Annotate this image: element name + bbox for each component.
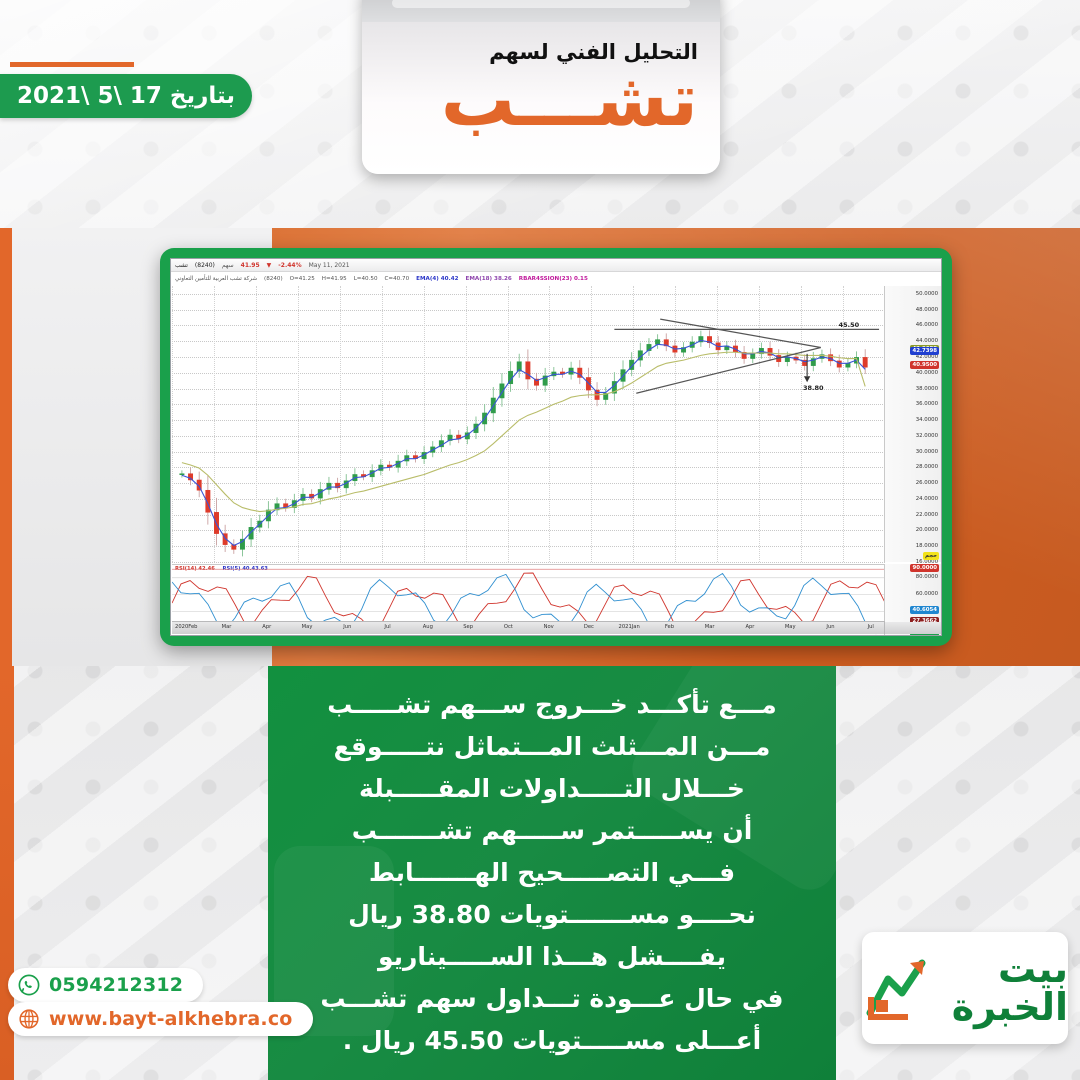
price-axis-tick: 38.0000 <box>916 386 938 392</box>
price-axis-tick: 40.0000 <box>916 370 938 376</box>
date-axis-tick: Apr <box>745 624 754 630</box>
date-axis-tick: 2021Jan <box>619 624 640 630</box>
date-axis-tick: Dec <box>584 624 594 630</box>
contact-website-text: www.bayt-alkhebra.co <box>49 1008 293 1030</box>
growth-arrow-chart-icon <box>862 953 936 1023</box>
price-badge: 40.9500 <box>910 361 939 369</box>
price-gridline <box>172 562 885 563</box>
triangle-trendline <box>660 319 821 347</box>
chart-last-price: 41.95 <box>241 262 260 269</box>
ohlc-high: H=41.95 <box>322 276 347 282</box>
contact-phone-text: 0594212312 <box>49 974 183 996</box>
rsi-badge: 40.6054 <box>910 606 939 614</box>
price-axis-tick: 26.0000 <box>916 480 938 486</box>
price-axis-tick: 34.0000 <box>916 417 938 423</box>
chart-screenshot: تشب (8240) سهم 41.95 ▼ -2.44% May 11, 20… <box>170 258 942 636</box>
infographic-root: التحليل الفني لسهم تشـــب بتاريخ 17 \5 \… <box>0 0 1080 1080</box>
ohlc-close: C=40.70 <box>385 276 410 282</box>
price-axis-tick: 48.0000 <box>916 307 938 313</box>
brand-logo-text: بيت الخبرة <box>936 950 1068 1026</box>
price-axis: 50.000048.000046.000044.000042.000040.00… <box>884 286 941 562</box>
chart-date: May 11, 2021 <box>309 262 350 269</box>
date-axis-tick: Apr <box>262 624 271 630</box>
rsi-badge: 90.0000 <box>910 564 939 572</box>
price-axis-tick: 18.0000 <box>916 543 938 549</box>
date-axis-tick: Aug <box>423 624 433 630</box>
date-axis: 2020FebMarAprMayJunJulAugSepOctNovDec202… <box>172 621 885 634</box>
price-axis-tick: 28.0000 <box>916 464 938 470</box>
price-badge: 42.7398 <box>910 347 939 355</box>
chart-header-row-2: شركة تشب العربية للتأمين التعاوني (8240)… <box>171 272 941 285</box>
brand-logo-card: بيت الخبرة <box>862 932 1068 1044</box>
left-orange-rail-top <box>0 228 12 666</box>
date-axis-tick: Sep <box>463 624 473 630</box>
rsi-axis-tick: 80.0000 <box>916 574 938 580</box>
annotation-target-38-80: 38.80 <box>803 384 824 392</box>
price-axis-tick: 32.0000 <box>916 433 938 439</box>
chart-symbol-ar: تشب <box>175 262 188 269</box>
date-badge-accent-bar <box>10 62 134 67</box>
target-arrow-head <box>804 376 810 382</box>
price-plot-area: 45.50 38.80 <box>172 286 885 562</box>
date-axis-tick: Mar <box>705 624 715 630</box>
chart-frame: تشب (8240) سهم 41.95 ▼ -2.44% May 11, 20… <box>160 248 952 646</box>
ohlc-low: L=40.50 <box>354 276 378 282</box>
analysis-text-panel: مـــع تأكـــد خـــروج ســـهم تشـــــبمــ… <box>268 666 836 1080</box>
analysis-line: فـــي التصـــــحيح الهـــــــابط <box>294 860 810 885</box>
date-axis-tick: Mar <box>222 624 232 630</box>
date-axis-tick: Nov <box>544 624 554 630</box>
date-axis-tick: Feb <box>665 624 674 630</box>
triangle-trendline <box>636 348 820 394</box>
volume-badge: حجم <box>923 552 939 560</box>
price-axis-tick: 30.0000 <box>916 449 938 455</box>
chart-change-percent: -2.44% <box>278 262 301 269</box>
contact-website-badge[interactable]: www.bayt-alkhebra.co <box>8 1002 313 1036</box>
price-down-arrow-icon: ▼ <box>267 262 272 269</box>
contact-phone-badge[interactable]: 0594212312 <box>8 968 203 1002</box>
analysis-line: مـــن المـــثلث المـــتماثل نتـــــوقع <box>294 734 810 759</box>
price-axis-tick: 44.0000 <box>916 338 938 344</box>
price-axis-tick: 46.0000 <box>916 322 938 328</box>
chart-symbol-code: (8240) <box>195 262 215 269</box>
price-axis-tick: 24.0000 <box>916 496 938 502</box>
page-title-symbol: تشـــب <box>362 62 698 140</box>
price-axis-tick: 36.0000 <box>916 401 938 407</box>
candlestick-svg <box>172 286 885 562</box>
price-axis-tick: 20.0000 <box>916 527 938 533</box>
indicator-ema-slow: EMA(18) 38.26 <box>466 276 512 282</box>
indicator-line <box>182 340 865 545</box>
ohlc-open: O=41.25 <box>290 276 315 282</box>
date-axis-tick: May <box>302 624 313 630</box>
analysis-line: نحــــو مســـــــتويات 38.80 ريال <box>294 902 810 927</box>
analysis-line: أعـــلى مســـــتويات 45.50 ريال . <box>294 1028 810 1053</box>
indicator-line <box>182 352 865 511</box>
chart-market-label: سهم <box>222 262 234 269</box>
price-axis-tick: 50.0000 <box>916 291 938 297</box>
indicator-ema-fast: EMA(4) 40.42 <box>416 276 458 282</box>
title-card-top-glow <box>362 0 720 22</box>
whatsapp-icon <box>18 974 40 996</box>
date-axis-tick: May <box>785 624 796 630</box>
date-axis-tick: Jul <box>868 624 874 630</box>
indicator-extra: RBAR4SSION(23) 0.15 <box>519 276 588 282</box>
price-axis-tick: 22.0000 <box>916 512 938 518</box>
analysis-text-lines: مـــع تأكـــد خـــروج ســـهم تشـــــبمــ… <box>268 692 836 1070</box>
date-badge: بتاريخ 17 \5 \2021 <box>0 74 252 118</box>
chart-series-label: شركة تشب العربية للتأمين التعاوني <box>175 276 257 282</box>
chart-header-row-1: تشب (8240) سهم 41.95 ▼ -2.44% May 11, 20… <box>171 259 941 272</box>
date-axis-tick: Jul <box>384 624 390 630</box>
title-card: التحليل الفني لسهم تشـــب <box>362 0 720 174</box>
rsi-axis-tick: 60.0000 <box>916 591 938 597</box>
date-axis-tick: Jun <box>343 624 351 630</box>
analysis-line: في حال عـــودة تـــداول سهم تشـــب <box>294 986 810 1011</box>
globe-icon <box>18 1008 40 1030</box>
date-axis-tick: 2020Feb <box>175 624 197 630</box>
analysis-line: خـــلال التـــــداولات المقـــــبلة <box>294 776 810 801</box>
analysis-line: يفــــشل هـــذا الســـــيناريو <box>294 944 810 969</box>
analysis-line: مـــع تأكـــد خـــروج ســـهم تشـــــب <box>294 692 810 717</box>
date-axis-tick: Jun <box>826 624 834 630</box>
date-axis-tick: Oct <box>504 624 513 630</box>
chart-series-code: (8240) <box>264 276 283 282</box>
axis-corner <box>884 622 941 634</box>
analysis-line: أن يســـــتمر ســـــهم تشـــــــب <box>294 818 810 843</box>
annotation-resistance-45-50: 45.50 <box>839 321 860 329</box>
